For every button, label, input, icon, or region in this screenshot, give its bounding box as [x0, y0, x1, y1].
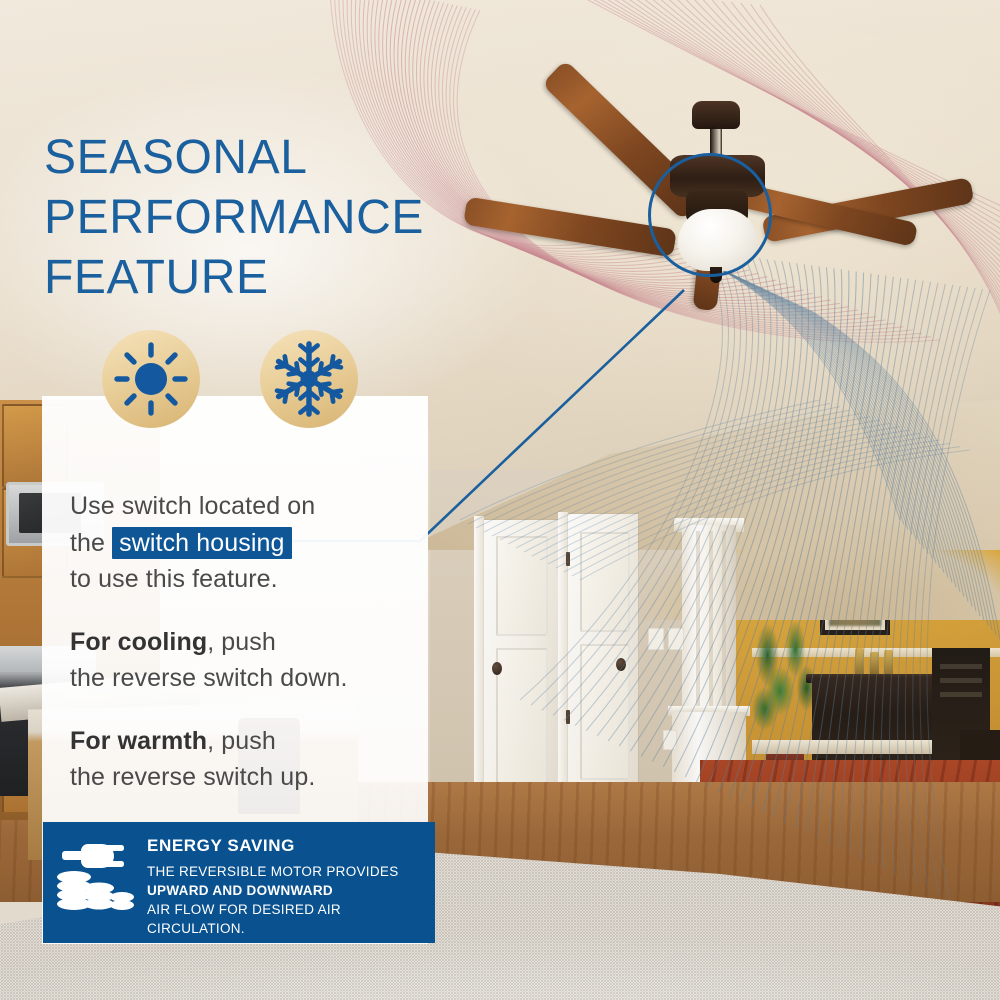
banner-title: ENERGY SAVING — [147, 836, 399, 856]
snowflake-icon-badge — [260, 330, 358, 428]
candlestick — [884, 650, 893, 676]
door-knob[interactable] — [492, 662, 502, 675]
banner-body-line-1: THE REVERSIBLE MOTOR PROVIDES — [147, 862, 399, 881]
fan-canopy — [692, 101, 740, 129]
banner-body-line-2: UPWARD AND DOWNWARD — [147, 881, 399, 900]
banner-copy: ENERGY SAVING THE REVERSIBLE MOTOR PROVI… — [147, 822, 409, 939]
instruction-paragraph-cooling: For cooling, push the reverse switch dow… — [70, 624, 400, 697]
door-knob[interactable] — [616, 658, 626, 671]
door-right[interactable] — [568, 514, 638, 810]
instruction-text: Use switch located on the switch housing… — [70, 488, 400, 822]
chair-slat — [940, 664, 982, 669]
ceiling-arch — [600, 430, 1000, 620]
door-left[interactable] — [484, 520, 558, 808]
candlestick — [855, 648, 864, 676]
cooling-rest: , push — [207, 628, 276, 656]
banner-body-line-4: CIRCULATION. — [147, 919, 399, 938]
seasonal-performance-infographic: Use switch located on the switch housing… — [0, 0, 1000, 1000]
headline-line-2: PERFORMANCE — [44, 188, 504, 248]
door-panel-lower — [496, 648, 548, 790]
page-title: SEASONAL PERFORMANCE FEATURE — [44, 128, 504, 308]
switch-housing-highlight: switch housing — [112, 527, 291, 559]
chair-slat — [940, 692, 982, 697]
light-switch-plate[interactable] — [648, 628, 664, 650]
door-panel-upper — [496, 536, 548, 636]
ceiling-fan — [470, 85, 990, 345]
warmth-rest: , push — [207, 727, 276, 755]
instruction-paragraph-1: Use switch located on the switch housing… — [70, 488, 400, 598]
banner-body: THE REVERSIBLE MOTOR PROVIDES UPWARD AND… — [147, 862, 399, 939]
door-hinge — [566, 552, 570, 566]
light-switch-plate[interactable] — [668, 628, 684, 650]
headline-line-1: SEASONAL — [44, 128, 504, 188]
plug-coins-savings-icon — [54, 832, 136, 916]
snowflake-icon — [270, 340, 348, 418]
banner-body-line-3: AIR FLOW FOR DESIRED AIR — [147, 900, 399, 919]
headline-line-3: FEATURE — [44, 248, 504, 308]
door-jamb — [474, 516, 484, 812]
energy-saving-banner: ENERGY SAVING THE REVERSIBLE MOTOR PROVI… — [43, 822, 435, 943]
door-hinge — [566, 710, 570, 724]
banner-icon-wrap — [43, 822, 147, 916]
cooling-line-2: the reverse switch down. — [70, 664, 348, 692]
warmth-line-2: the reverse switch up. — [70, 763, 315, 791]
outlet-plate[interactable] — [663, 730, 677, 750]
door-panel-upper — [580, 532, 630, 632]
sun-icon — [114, 342, 188, 416]
warmth-label: For warmth — [70, 727, 207, 755]
callout-circle — [648, 153, 772, 277]
chair-slat — [940, 678, 982, 683]
instruction-line-1: Use switch located on — [70, 492, 315, 520]
cooling-label: For cooling — [70, 628, 207, 656]
instruction-line-3: to use this feature. — [70, 565, 278, 593]
sun-icon-badge — [102, 330, 200, 428]
instruction-line-2-pre: the — [70, 529, 112, 557]
candlestick — [870, 652, 879, 676]
instruction-paragraph-warmth: For warmth, push the reverse switch up. — [70, 723, 400, 796]
